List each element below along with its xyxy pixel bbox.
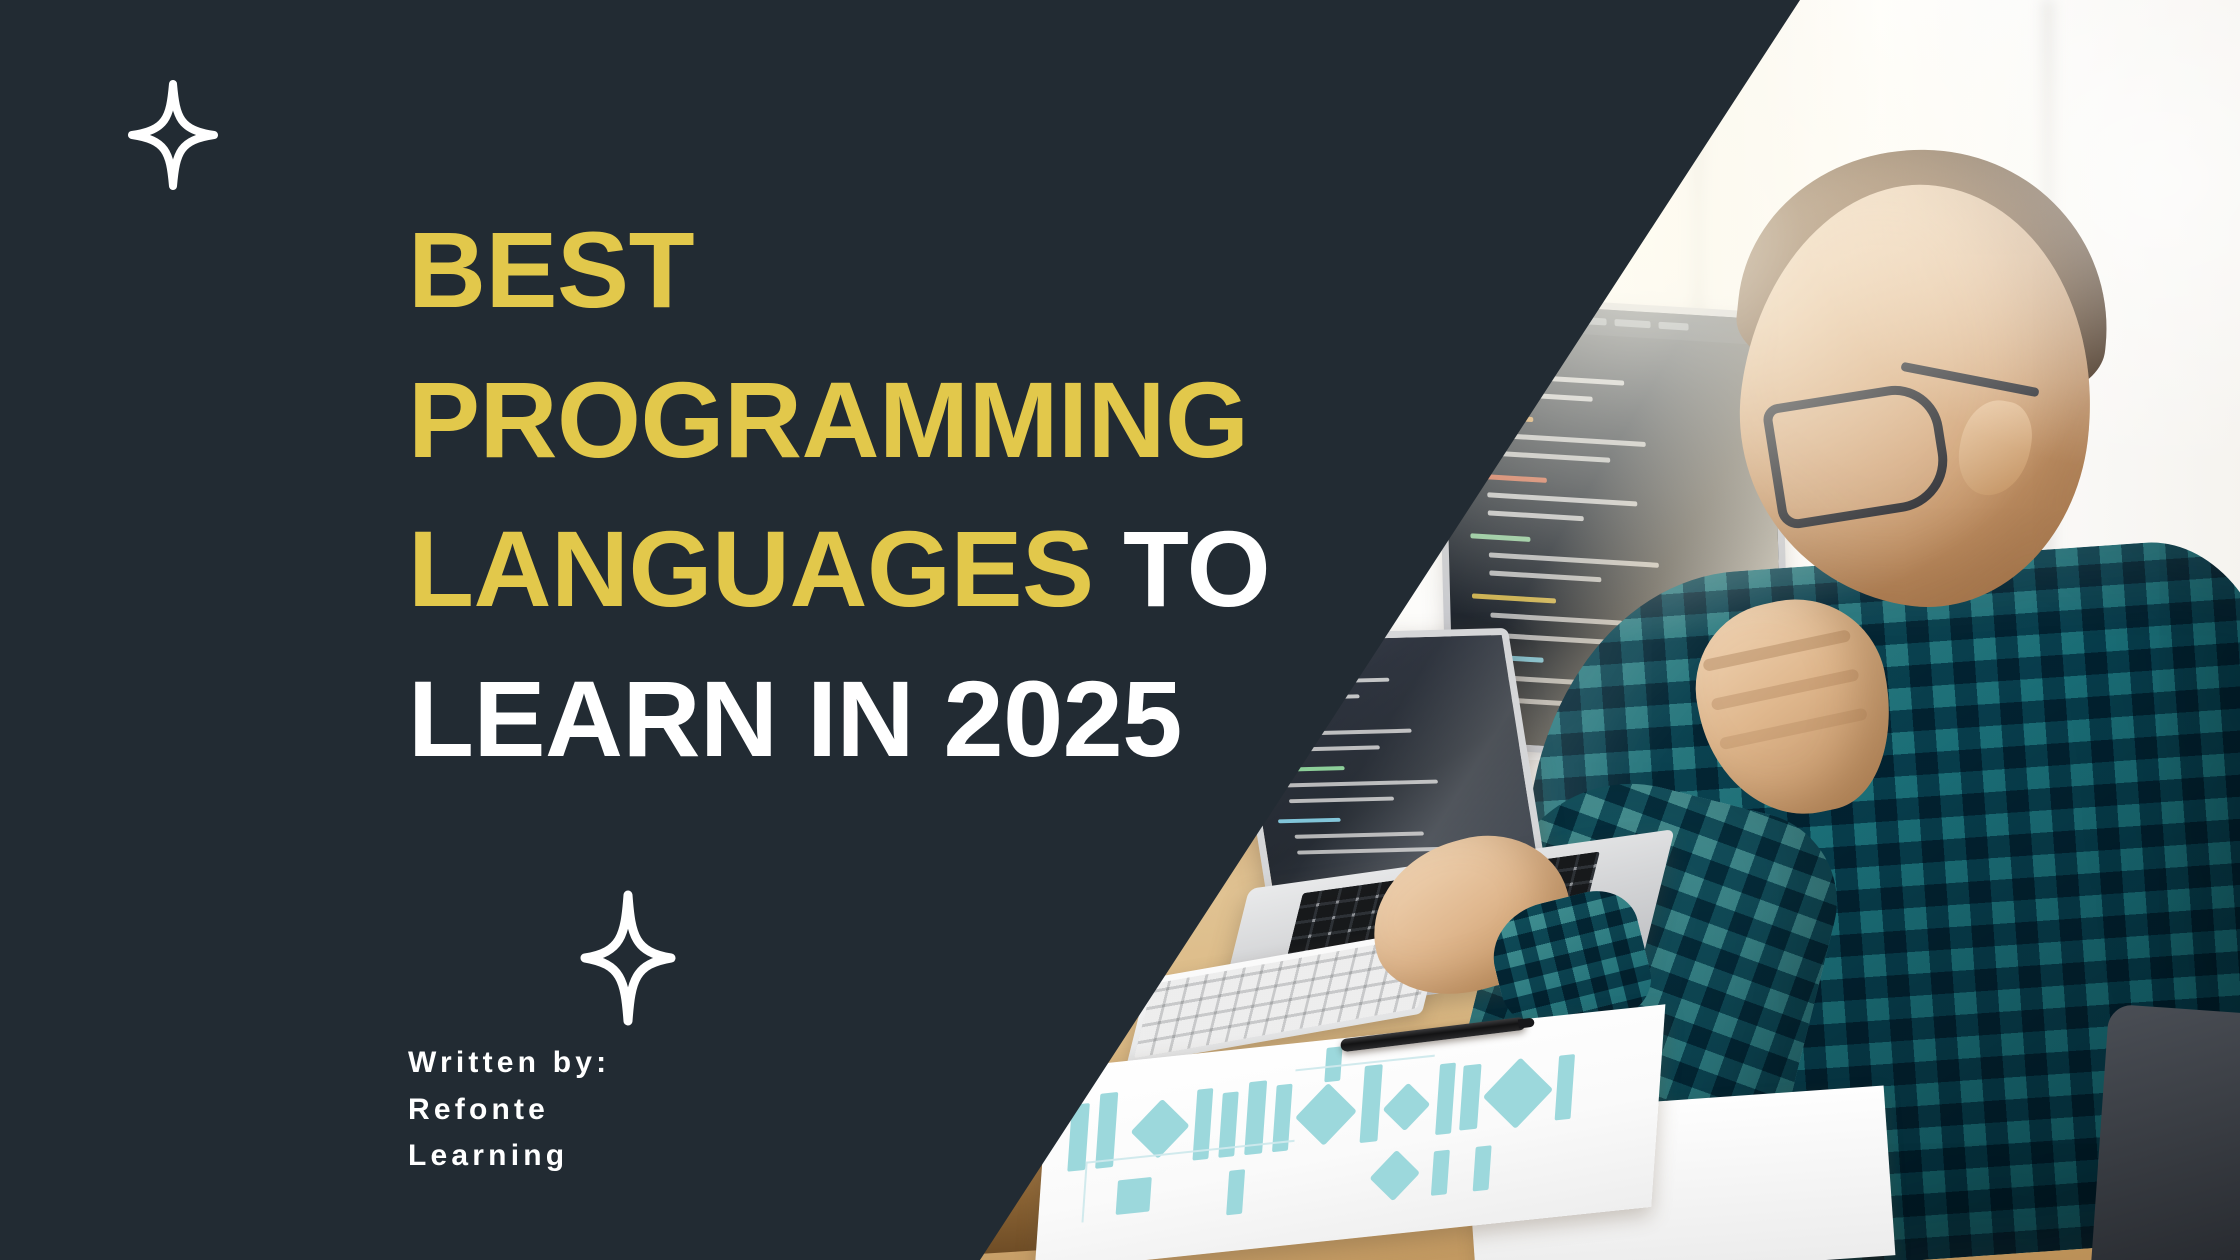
- headline-line-3: LANGUAGES TO: [408, 511, 1418, 627]
- headline-word-programming: PROGRAMMING: [408, 359, 1248, 480]
- headline-word-to: TO: [1123, 508, 1270, 629]
- headline-line-2: PROGRAMMING: [408, 362, 1418, 478]
- sparkle-bottom-icon: [580, 890, 676, 1026]
- headline-word-languages: LANGUAGES: [408, 508, 1094, 629]
- headline-line-1: BEST: [408, 212, 1418, 328]
- byline-author-line-1: Refonte: [408, 1087, 610, 1134]
- byline-block: Written by: Refonte Learning: [408, 1040, 610, 1180]
- byline-label: Written by:: [408, 1040, 610, 1087]
- headline-line-4: LEARN IN 2025: [408, 661, 1418, 777]
- headline-word-best: BEST: [408, 209, 694, 330]
- sparkle-top-icon: [128, 80, 218, 190]
- headline-block: BEST PROGRAMMING LANGUAGES TO LEARN IN 2…: [408, 212, 1418, 776]
- office-chair: [2091, 1004, 2240, 1260]
- headline-phrase-learn-in-2025: LEARN IN 2025: [408, 658, 1182, 779]
- poster-content: BEST PROGRAMMING LANGUAGES TO LEARN IN 2…: [0, 0, 1800, 1260]
- byline-author-line-2: Learning: [408, 1133, 610, 1180]
- poster-canvas: BEST PROGRAMMING LANGUAGES TO LEARN IN 2…: [0, 0, 2240, 1260]
